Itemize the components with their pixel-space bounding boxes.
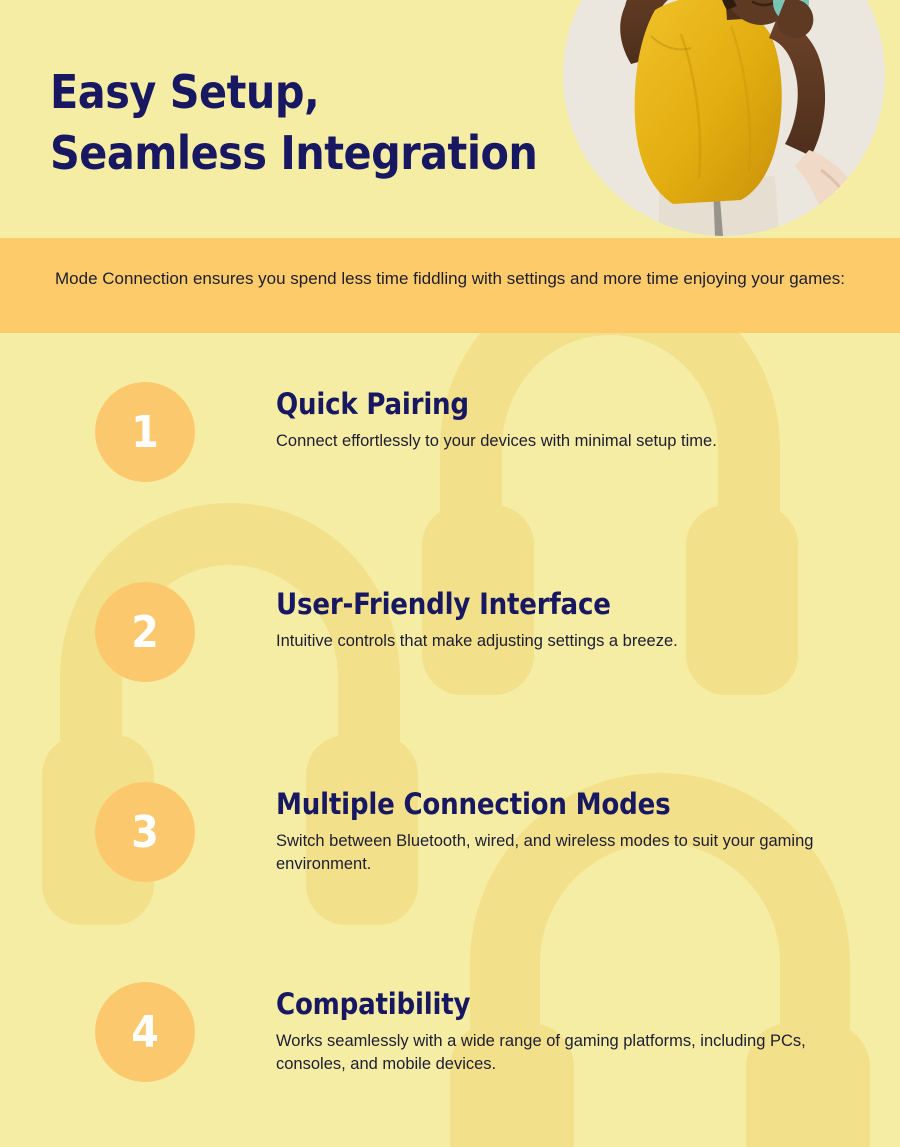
feature-description-3: Switch between Bluetooth, wired, and wir… [276, 830, 846, 876]
feature-number-badge-4: 4 [95, 982, 195, 1082]
feature-body-4: Compatibility Works seamlessly with a wi… [276, 989, 876, 1075]
list-item: 3 Multiple Connection Modes Switch betwe… [0, 733, 900, 933]
list-item: 4 Compatibility Works seamlessly with a … [0, 933, 900, 1133]
intro-text: Mode Connection ensures you spend less t… [55, 267, 845, 292]
infographic-poster: Easy Setup, Seamless Integration Mode Co… [0, 0, 900, 1147]
feature-description-2: Intuitive controls that make adjusting s… [276, 630, 846, 653]
feature-title-1: Quick Pairing [276, 389, 876, 421]
feature-list: 1 Quick Pairing Connect effortlessly to … [0, 333, 900, 1133]
list-item: 1 Quick Pairing Connect effortlessly to … [0, 333, 900, 533]
intro-banner: Mode Connection ensures you spend less t… [0, 238, 900, 333]
list-item: 2 User-Friendly Interface Intuitive cont… [0, 533, 900, 733]
feature-title-2: User-Friendly Interface [276, 589, 876, 621]
feature-number-4: 4 [131, 1011, 159, 1055]
feature-description-4: Works seamlessly with a wide range of ga… [276, 1030, 846, 1076]
feature-number-badge-1: 1 [95, 382, 195, 482]
headphones-lifestyle-photo [563, 0, 885, 236]
feature-number-3: 3 [131, 811, 159, 855]
feature-description-1: Connect effortlessly to your devices wit… [276, 430, 846, 453]
page-title: Easy Setup, Seamless Integration [50, 62, 570, 184]
feature-number-badge-2: 2 [95, 582, 195, 682]
feature-body-3: Multiple Connection Modes Switch between… [276, 789, 876, 875]
feature-title-4: Compatibility [276, 989, 876, 1021]
feature-title-3: Multiple Connection Modes [276, 789, 876, 821]
feature-number-2: 2 [131, 611, 159, 655]
hero-header: Easy Setup, Seamless Integration [0, 0, 900, 238]
feature-body-2: User-Friendly Interface Intuitive contro… [276, 589, 876, 653]
feature-number-1: 1 [131, 411, 159, 455]
feature-number-badge-3: 3 [95, 782, 195, 882]
feature-body-1: Quick Pairing Connect effortlessly to yo… [276, 389, 876, 453]
